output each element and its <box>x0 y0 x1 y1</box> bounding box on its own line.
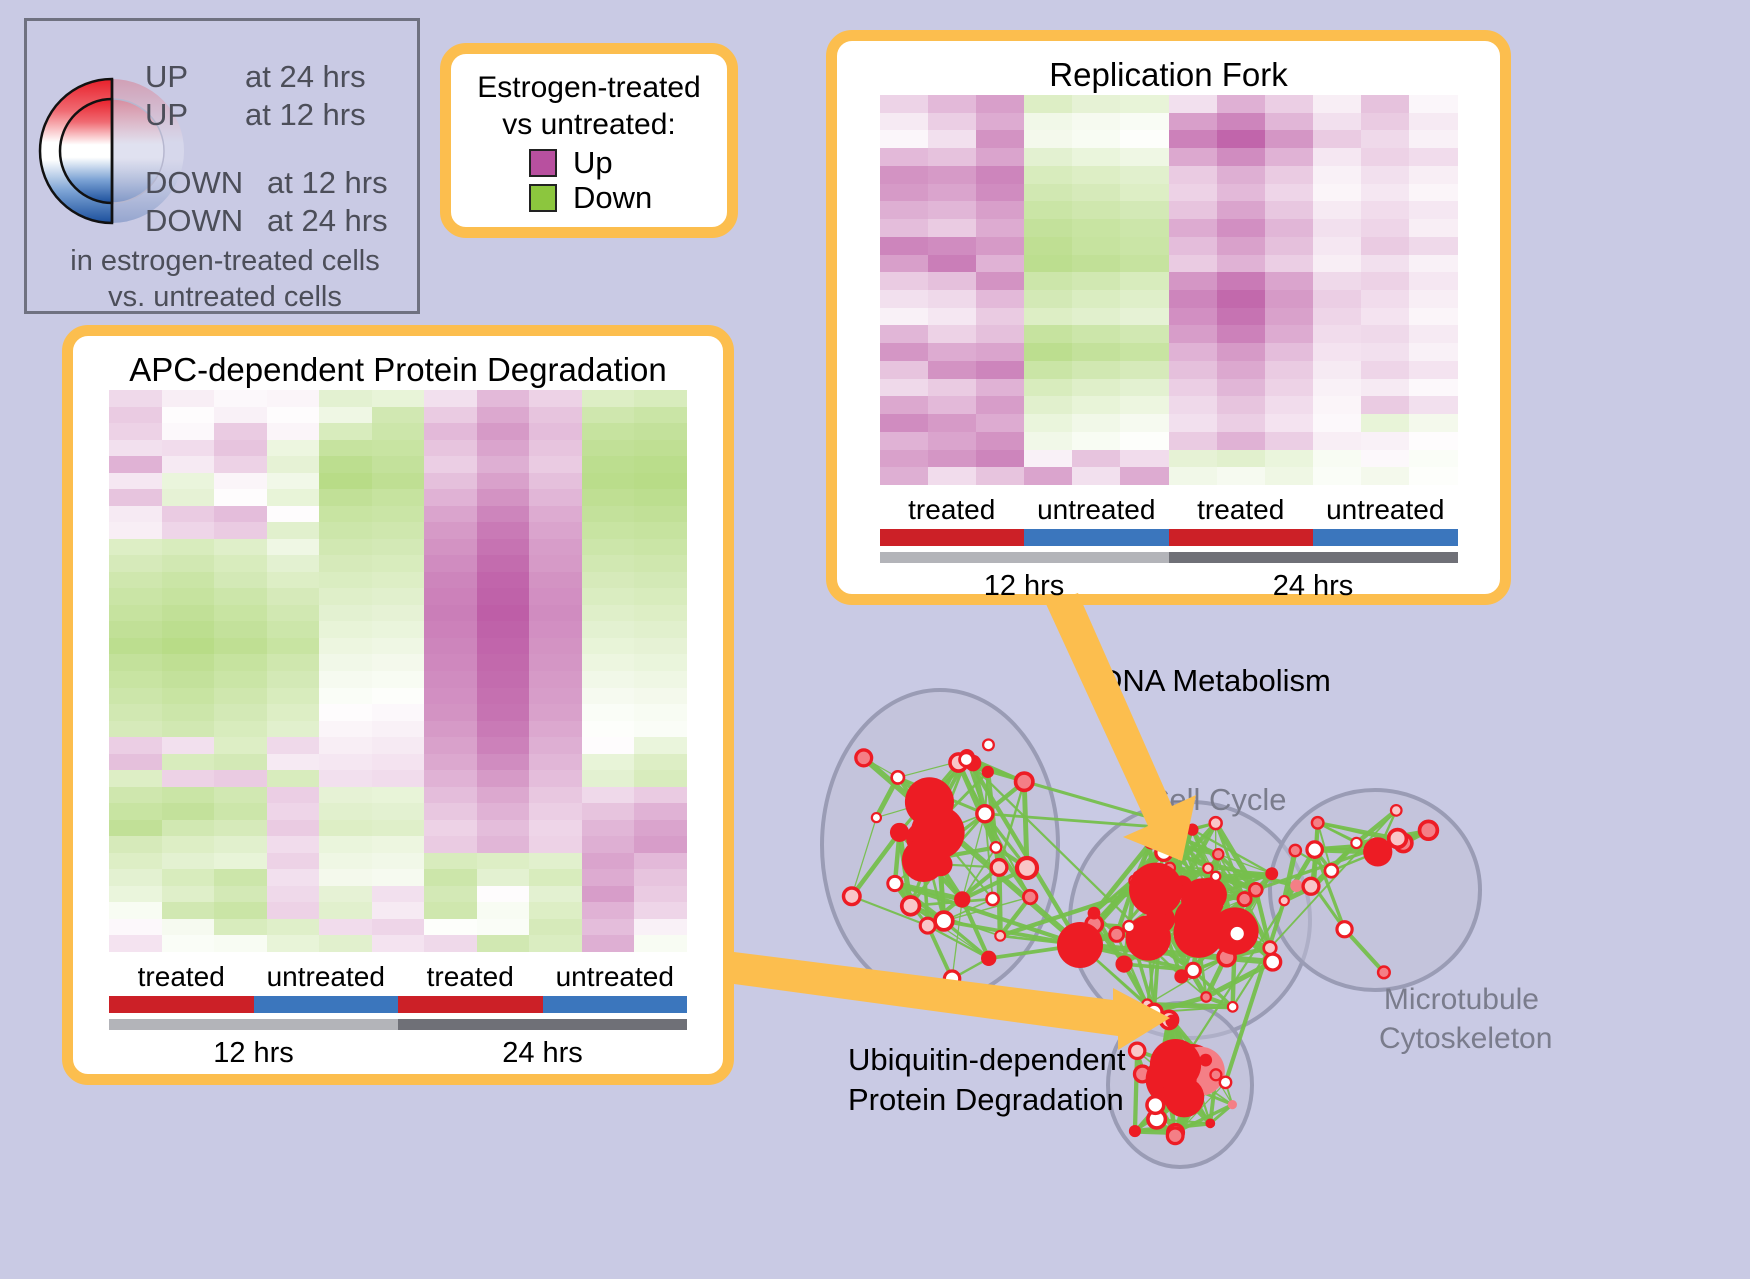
heatmap-cell <box>634 473 687 490</box>
network-node <box>1088 907 1101 920</box>
heatmap-cell <box>162 869 215 886</box>
heatmap-cell <box>372 688 425 705</box>
heatmap-cell <box>582 588 635 605</box>
heatmap-cell <box>372 737 425 754</box>
heatmap-cell <box>372 489 425 506</box>
heatmap-cell <box>372 935 425 952</box>
apc-group-bar <box>109 996 687 1013</box>
heatmap-cell <box>976 414 1024 432</box>
heatmap-cell <box>109 754 162 771</box>
heatmap-cell <box>1169 201 1217 219</box>
heatmap-cell <box>162 671 215 688</box>
network-node <box>1186 823 1198 835</box>
heatmap-cell <box>1409 308 1457 326</box>
heatmap-cell <box>1217 148 1265 166</box>
heatmap-cell <box>109 770 162 787</box>
heatmap-cell <box>109 836 162 853</box>
heatmap-cell <box>1409 148 1457 166</box>
heatmap-cell <box>267 902 320 919</box>
replication-fork-group-bar <box>880 529 1458 546</box>
heatmap-cell <box>529 803 582 820</box>
heatmap-cell <box>267 473 320 490</box>
heatmap-cell <box>529 754 582 771</box>
heatmap-cell <box>477 605 530 622</box>
network-node <box>1363 837 1392 866</box>
group-label: untreated <box>1313 493 1458 527</box>
annotation-segment <box>109 996 254 1013</box>
heatmap-cell <box>1361 184 1409 202</box>
heatmap-cell <box>372 423 425 440</box>
heatmap-cell <box>319 423 372 440</box>
heatmap-cell <box>1024 432 1072 450</box>
heatmap-cell <box>109 638 162 655</box>
annotation-segment <box>1024 529 1169 546</box>
heatmap-cell <box>880 237 928 255</box>
heatmap-cell <box>1217 113 1265 131</box>
heatmap-cell <box>634 770 687 787</box>
heatmap-cell <box>214 407 267 424</box>
heatmap-cell <box>477 638 530 655</box>
replication-fork-time-labels: 12 hrs 24 hrs <box>880 567 1458 605</box>
heatmap-cell <box>1409 450 1457 468</box>
legend-title-line-1: Estrogen-treated <box>451 69 727 106</box>
heatmap-cell <box>319 654 372 671</box>
network-node <box>983 739 994 750</box>
network-edge <box>1135 1051 1137 1131</box>
time-label: 12 hrs <box>109 1034 398 1072</box>
heatmap-cell <box>582 489 635 506</box>
heatmap-cell <box>1169 432 1217 450</box>
heatmap-cell <box>1313 184 1361 202</box>
heatmap-cell <box>976 343 1024 361</box>
network-node <box>1265 954 1281 970</box>
heatmap-cell <box>1169 95 1217 113</box>
heatmap-cell <box>582 688 635 705</box>
heatmap-cell <box>634 456 687 473</box>
heatmap-cell <box>928 184 976 202</box>
heatmap-cell <box>976 95 1024 113</box>
heatmap-cell <box>1217 95 1265 113</box>
network-node <box>987 893 999 905</box>
heatmap-cell <box>880 113 928 131</box>
network-node <box>1303 878 1319 894</box>
heatmap-cell <box>1120 467 1168 485</box>
heatmap-cell <box>477 390 530 407</box>
heatmap-cell <box>1265 361 1313 379</box>
heatmap-cell <box>477 721 530 738</box>
heatmap-cell <box>928 414 976 432</box>
replication-fork-heatmap <box>880 95 1458 485</box>
heatmap-cell <box>162 853 215 870</box>
heatmap-cell <box>214 836 267 853</box>
heatmap-cell <box>976 432 1024 450</box>
network-node <box>995 931 1005 941</box>
heatmap-cell <box>1217 325 1265 343</box>
heatmap-cell <box>529 787 582 804</box>
heatmap-cell <box>1313 237 1361 255</box>
heatmap-cell <box>529 902 582 919</box>
heatmap-cell <box>976 255 1024 273</box>
heatmap-cell <box>1120 272 1168 290</box>
heatmap-cell <box>372 555 425 572</box>
colorwheel-footer-line-2: vs. untreated cells <box>27 279 423 315</box>
heatmap-cell <box>424 605 477 622</box>
heatmap-cell <box>214 704 267 721</box>
heatmap-cell <box>267 671 320 688</box>
heatmap-cell <box>477 770 530 787</box>
heatmap-cell <box>880 255 928 273</box>
heatmap-cell <box>634 754 687 771</box>
legend-label-up: Up <box>573 147 613 178</box>
heatmap-cell <box>372 803 425 820</box>
heatmap-cell <box>1169 237 1217 255</box>
heatmap-cell <box>267 787 320 804</box>
heatmap-cell <box>634 407 687 424</box>
heatmap-cell <box>1120 184 1168 202</box>
network-node <box>1165 1014 1178 1027</box>
heatmap-cell <box>976 184 1024 202</box>
heatmap-cell <box>162 754 215 771</box>
heatmap-cell <box>582 886 635 903</box>
network-node <box>1228 1100 1237 1109</box>
heatmap-cell <box>162 919 215 936</box>
heatmap-cell <box>1361 201 1409 219</box>
heatmap-cell <box>372 820 425 837</box>
legend-title-line-2: vs untreated: <box>451 106 727 143</box>
network-node <box>960 753 973 766</box>
heatmap-cell <box>928 432 976 450</box>
heatmap-cell <box>634 605 687 622</box>
heatmap-cell <box>372 919 425 936</box>
network-node <box>1220 1077 1231 1088</box>
heatmap-cell <box>214 803 267 820</box>
wheel-label-down-24: DOWN <box>145 205 243 236</box>
heatmap-cell <box>928 450 976 468</box>
heatmap-cell <box>582 902 635 919</box>
heatmap-cell <box>1120 308 1168 326</box>
heatmap-cell <box>424 638 477 655</box>
heatmap-cell <box>582 836 635 853</box>
heatmap-cell <box>109 522 162 539</box>
heatmap-cell <box>880 432 928 450</box>
heatmap-cell <box>928 130 976 148</box>
heatmap-cell <box>477 407 530 424</box>
annotation-segment <box>1313 529 1458 546</box>
heatmap-cell <box>1169 379 1217 397</box>
heatmap-cell <box>582 423 635 440</box>
heatmap-cell <box>529 853 582 870</box>
heatmap-cell <box>319 737 372 754</box>
cluster-label-dna-metabolism: DNA Metabolism <box>1100 663 1331 699</box>
heatmap-cell <box>1024 467 1072 485</box>
heatmap-cell <box>319 886 372 903</box>
heatmap-cell <box>477 555 530 572</box>
heatmap-cell <box>319 407 372 424</box>
heatmap-cell <box>477 902 530 919</box>
heatmap-cell <box>529 935 582 952</box>
heatmap-cell <box>1313 432 1361 450</box>
heatmap-cell <box>1024 237 1072 255</box>
heatmap-cell <box>372 440 425 457</box>
network-node <box>1228 1002 1238 1012</box>
heatmap-cell <box>634 902 687 919</box>
network-node <box>1199 1054 1212 1067</box>
heatmap-cell <box>880 166 928 184</box>
heatmap-cell <box>162 407 215 424</box>
heatmap-cell <box>976 272 1024 290</box>
heatmap-cell <box>582 737 635 754</box>
heatmap-cell <box>1313 272 1361 290</box>
heatmap-cell <box>1072 432 1120 450</box>
heatmap-cell <box>634 588 687 605</box>
heatmap-cell <box>1120 166 1168 184</box>
network-node <box>872 813 881 822</box>
network-node <box>1378 967 1390 979</box>
heatmap-cell <box>1072 272 1120 290</box>
heatmap-cell <box>319 935 372 952</box>
heatmap-cell <box>1313 255 1361 273</box>
network-node <box>991 842 1002 853</box>
heatmap-cell <box>634 654 687 671</box>
heatmap-cell <box>1072 308 1120 326</box>
heatmap-cell <box>424 440 477 457</box>
annotation-segment <box>398 996 543 1013</box>
heatmap-cell <box>634 440 687 457</box>
heatmap-cell <box>109 473 162 490</box>
heatmap-cell <box>928 166 976 184</box>
heatmap-cell <box>1217 272 1265 290</box>
heatmap-cell <box>976 361 1024 379</box>
heatmap-cell <box>319 572 372 589</box>
heatmap-cell <box>162 935 215 952</box>
heatmap-cell <box>1120 379 1168 397</box>
heatmap-cell <box>372 407 425 424</box>
heatmap-cell <box>529 423 582 440</box>
heatmap-cell <box>162 638 215 655</box>
heatmap-cell <box>1169 130 1217 148</box>
heatmap-cell <box>1120 237 1168 255</box>
heatmap-cell <box>319 489 372 506</box>
heatmap-cell <box>1409 467 1457 485</box>
heatmap-cell <box>1169 361 1217 379</box>
heatmap-cell <box>1361 113 1409 131</box>
heatmap-cell <box>424 869 477 886</box>
heatmap-cell <box>1361 379 1409 397</box>
heatmap-cell <box>162 688 215 705</box>
heatmap-cell <box>267 853 320 870</box>
heatmap-cell <box>1169 343 1217 361</box>
heatmap-cell <box>424 919 477 936</box>
heatmap-cell <box>1313 450 1361 468</box>
network-node <box>982 766 994 778</box>
heatmap-cell <box>477 671 530 688</box>
heatmap-cell <box>1409 130 1457 148</box>
heatmap-cell <box>582 539 635 556</box>
heatmap-cell <box>319 919 372 936</box>
heatmap-cell <box>319 688 372 705</box>
heatmap-cell <box>1120 148 1168 166</box>
group-label: treated <box>880 493 1025 527</box>
heatmap-cell <box>319 869 372 886</box>
swatch-down-icon <box>529 184 557 212</box>
legend-key-panel: Estrogen-treated vs untreated: Up Down <box>440 43 738 238</box>
network-node <box>944 971 959 986</box>
heatmap-cell <box>214 919 267 936</box>
heatmap-cell <box>214 621 267 638</box>
heatmap-cell <box>1361 396 1409 414</box>
wheel-detail-down-12: at 12 hrs <box>267 167 388 198</box>
replication-fork-time-bar <box>880 552 1458 563</box>
heatmap-cell <box>477 869 530 886</box>
network-node <box>1213 849 1223 859</box>
heatmap-cell <box>634 721 687 738</box>
network-node <box>1023 890 1037 904</box>
heatmap-cell <box>1313 201 1361 219</box>
apc-heatmap <box>109 390 687 952</box>
heatmap-cell <box>1313 219 1361 237</box>
heatmap-cell <box>1265 467 1313 485</box>
heatmap-cell <box>372 572 425 589</box>
heatmap-cell <box>582 555 635 572</box>
network-node <box>1391 805 1402 816</box>
heatmap-cell <box>424 423 477 440</box>
heatmap-cell <box>529 886 582 903</box>
heatmap-cell <box>162 621 215 638</box>
heatmap-cell <box>477 489 530 506</box>
heatmap-cell <box>1409 166 1457 184</box>
heatmap-cell <box>1409 272 1457 290</box>
group-label: untreated <box>254 960 399 994</box>
heatmap-cell <box>424 473 477 490</box>
network-node <box>981 951 996 966</box>
heatmap-cell <box>1361 308 1409 326</box>
heatmap-cell <box>109 671 162 688</box>
heatmap-cell <box>1265 379 1313 397</box>
heatmap-cell <box>214 638 267 655</box>
heatmap-cell <box>1024 396 1072 414</box>
heatmap-cell <box>1409 396 1457 414</box>
heatmap-cell <box>1265 130 1313 148</box>
heatmap-cell <box>634 886 687 903</box>
heatmap-cell <box>424 506 477 523</box>
heatmap-cell <box>477 787 530 804</box>
heatmap-cell <box>634 539 687 556</box>
heatmap-cell <box>424 555 477 572</box>
heatmap-cell <box>109 803 162 820</box>
wheel-label-up-24: UP <box>145 61 188 92</box>
heatmap-cell <box>424 787 477 804</box>
heatmap-cell <box>634 935 687 952</box>
heatmap-cell <box>1265 414 1313 432</box>
heatmap-cell <box>477 473 530 490</box>
network-node <box>1186 963 1200 977</box>
heatmap-cell <box>1072 237 1120 255</box>
heatmap-cell <box>1024 184 1072 202</box>
heatmap-cell <box>109 902 162 919</box>
network-node <box>1389 830 1407 848</box>
heatmap-cell <box>109 555 162 572</box>
pathway-network-graph <box>780 615 1580 1279</box>
heatmap-cell <box>529 654 582 671</box>
heatmap-cell <box>477 654 530 671</box>
wheel-detail-down-24: at 24 hrs <box>267 205 388 236</box>
heatmap-cell <box>477 423 530 440</box>
heatmap-cell <box>529 869 582 886</box>
heatmap-cell <box>319 803 372 820</box>
heatmap-cell <box>477 919 530 936</box>
heatmap-cell <box>477 737 530 754</box>
heatmap-cell <box>267 407 320 424</box>
group-label: treated <box>109 960 254 994</box>
annotation-segment <box>880 529 1025 546</box>
heatmap-cell <box>1361 432 1409 450</box>
heatmap-cell <box>1024 325 1072 343</box>
annotation-segment <box>109 1019 398 1030</box>
heatmap-cell <box>529 621 582 638</box>
heatmap-cell <box>1217 467 1265 485</box>
legend-row-down: Down <box>529 182 727 213</box>
heatmap-cell <box>1361 325 1409 343</box>
heatmap-cell <box>529 440 582 457</box>
replication-fork-title: Replication Fork <box>837 55 1500 95</box>
heatmap-cell <box>372 539 425 556</box>
heatmap-cell <box>424 754 477 771</box>
heatmap-cell <box>634 737 687 754</box>
heatmap-cell <box>1313 95 1361 113</box>
heatmap-cell <box>880 95 928 113</box>
heatmap-cell <box>1072 113 1120 131</box>
wheel-label-down-12: DOWN <box>145 167 243 198</box>
heatmap-cell <box>1024 414 1072 432</box>
heatmap-cell <box>372 886 425 903</box>
heatmap-cell <box>928 255 976 273</box>
heatmap-cell <box>634 853 687 870</box>
heatmap-cell <box>109 886 162 903</box>
heatmap-cell <box>372 721 425 738</box>
heatmap-cell <box>1072 201 1120 219</box>
heatmap-cell <box>880 130 928 148</box>
network-node <box>1017 858 1037 878</box>
heatmap-cell <box>1217 343 1265 361</box>
heatmap-cell <box>634 688 687 705</box>
heatmap-cell <box>1409 432 1457 450</box>
heatmap-cell <box>928 113 976 131</box>
heatmap-cell <box>1120 361 1168 379</box>
heatmap-cell <box>214 853 267 870</box>
heatmap-cell <box>267 555 320 572</box>
apc-group-labels: treated untreated treated untreated <box>109 960 687 994</box>
heatmap-cell <box>928 467 976 485</box>
heatmap-cell <box>634 638 687 655</box>
heatmap-cell <box>1072 184 1120 202</box>
microtubule-line-1: Microtubule <box>1379 980 1539 1019</box>
heatmap-cell <box>477 440 530 457</box>
heatmap-cell <box>267 423 320 440</box>
heatmap-cell <box>214 555 267 572</box>
heatmap-cell <box>477 886 530 903</box>
heatmap-cell <box>109 787 162 804</box>
heatmap-cell <box>1361 467 1409 485</box>
heatmap-cell <box>582 770 635 787</box>
heatmap-cell <box>477 820 530 837</box>
heatmap-cell <box>1217 396 1265 414</box>
heatmap-cell <box>529 407 582 424</box>
legend-title: Estrogen-treated vs untreated: <box>451 69 727 143</box>
network-node <box>1129 863 1183 917</box>
network-node <box>1264 942 1277 955</box>
heatmap-cell <box>214 688 267 705</box>
heatmap-cell <box>477 522 530 539</box>
